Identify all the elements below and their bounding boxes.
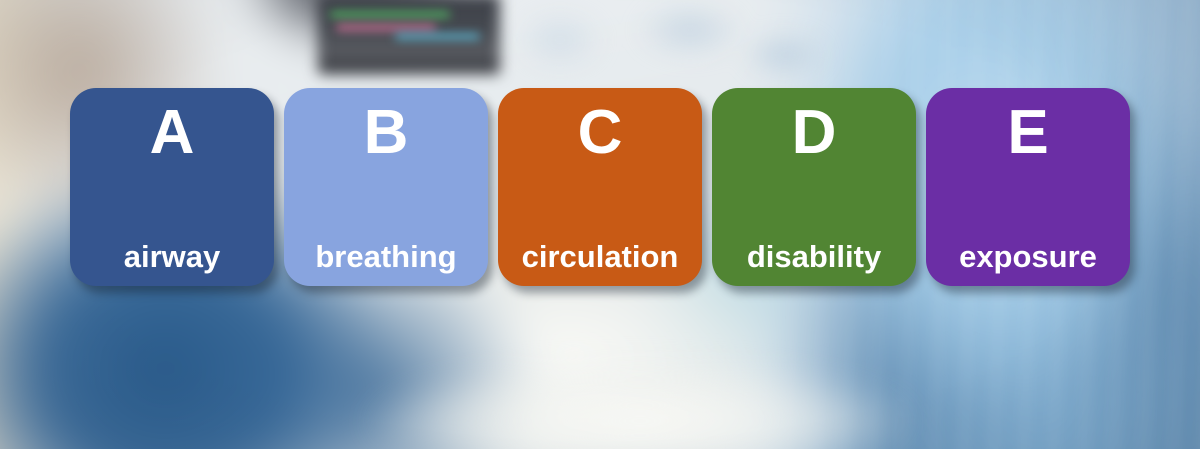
card-a-label: airway bbox=[124, 241, 221, 276]
card-c-letter: C bbox=[578, 102, 623, 164]
card-b-letter: B bbox=[364, 102, 409, 164]
card-e-letter: E bbox=[1007, 102, 1048, 164]
abcde-card-row: A airway B breathing C circulation D dis… bbox=[70, 88, 1130, 286]
card-d-letter: D bbox=[792, 102, 837, 164]
abcde-assessment-graphic: A airway B breathing C circulation D dis… bbox=[0, 0, 1200, 449]
card-b-label: breathing bbox=[315, 241, 456, 276]
card-a-letter: A bbox=[150, 102, 195, 164]
card-e-label: exposure bbox=[959, 241, 1097, 276]
card-d-disability[interactable]: D disability bbox=[712, 88, 916, 286]
card-e-exposure[interactable]: E exposure bbox=[926, 88, 1130, 286]
card-c-label: circulation bbox=[522, 241, 679, 276]
card-c-circulation[interactable]: C circulation bbox=[498, 88, 702, 286]
card-d-label: disability bbox=[747, 241, 881, 276]
card-b-breathing[interactable]: B breathing bbox=[284, 88, 488, 286]
card-a-airway[interactable]: A airway bbox=[70, 88, 274, 286]
